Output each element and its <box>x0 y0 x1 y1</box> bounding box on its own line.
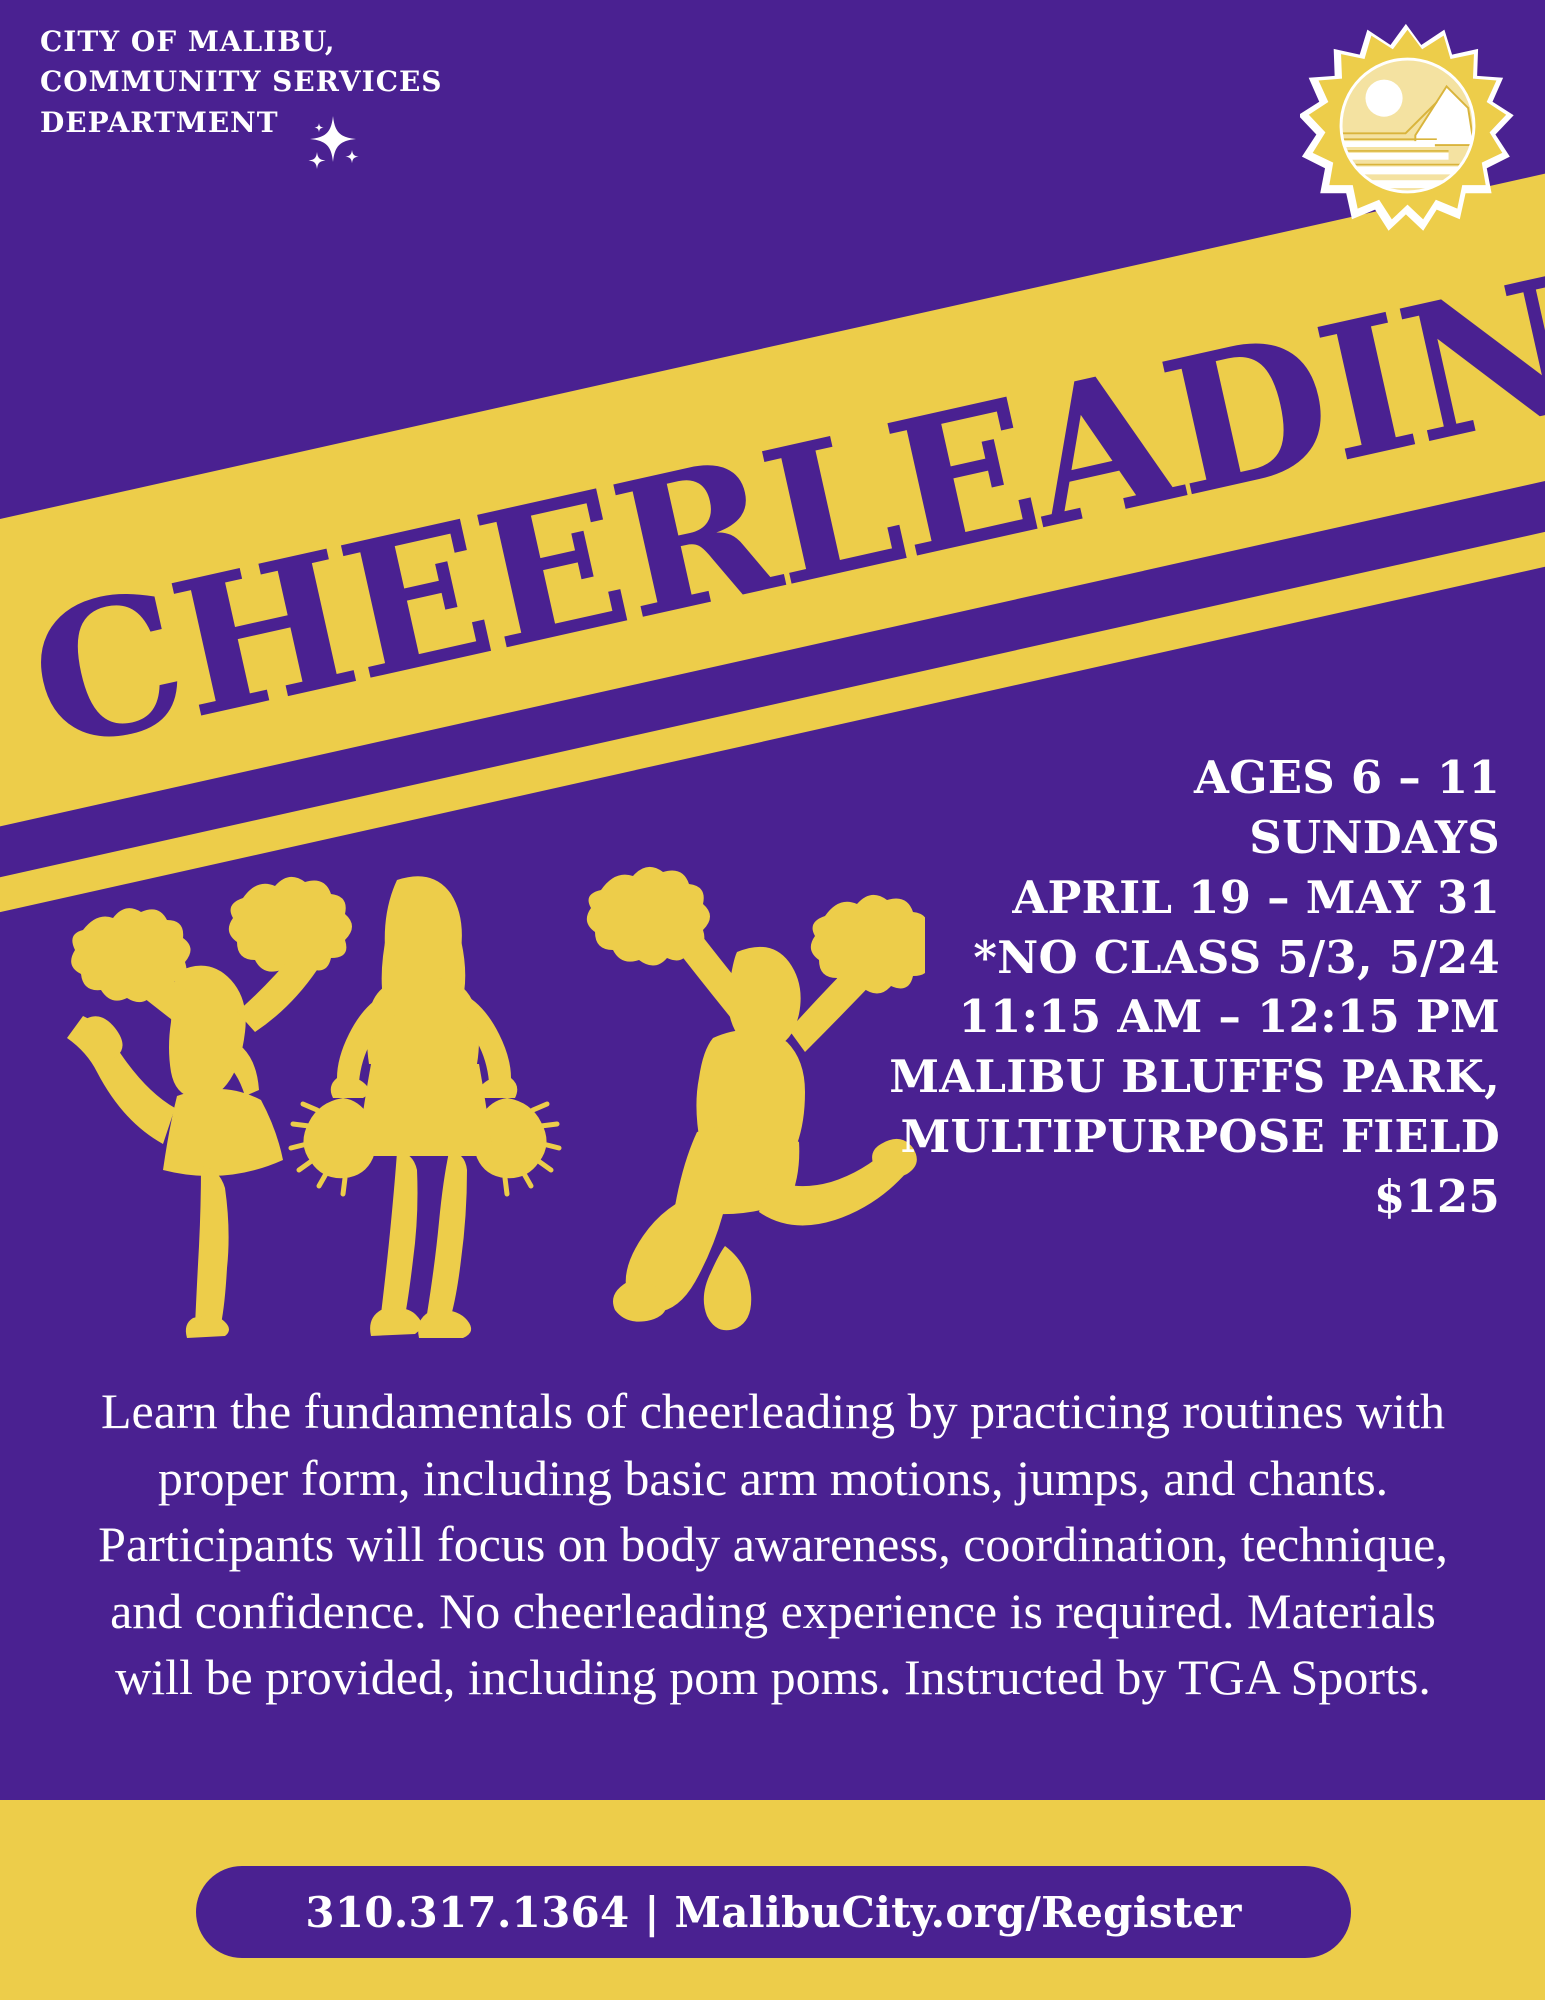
detail-location-line-1: MALIBU BLUFFS PARK, <box>600 1047 1500 1107</box>
sparkle-icon <box>295 108 365 178</box>
detail-price: $125 <box>600 1167 1500 1227</box>
malibu-sun-logo <box>1300 18 1515 233</box>
detail-location-line-2: MULTIPURPOSE FIELD <box>600 1107 1500 1167</box>
header-line-2: COMMUNITY SERVICES <box>40 62 680 102</box>
detail-ages: AGES 6 – 11 <box>600 748 1500 808</box>
cheerleading-flyer: CITY OF MALIBU, COMMUNITY SERVICES DEPAR… <box>0 0 1545 2000</box>
class-description: Learn the fundamentals of cheerleading b… <box>68 1378 1478 1711</box>
register-label: 310.317.1364 | MalibuCity.org/Register <box>305 1888 1241 1937</box>
register-button[interactable]: 310.317.1364 | MalibuCity.org/Register <box>196 1866 1351 1958</box>
diagonal-band-main <box>0 136 1545 854</box>
detail-exceptions: *NO CLASS 5/3, 5/24 <box>600 928 1500 988</box>
class-details: AGES 6 – 11 SUNDAYS APRIL 19 – MAY 31 *N… <box>600 748 1500 1227</box>
detail-dates: APRIL 19 – MAY 31 <box>600 868 1500 928</box>
detail-days: SUNDAYS <box>600 808 1500 868</box>
detail-time: 11:15 AM – 12:15 PM <box>600 987 1500 1047</box>
header-line-1: CITY OF MALIBU, <box>40 22 680 62</box>
